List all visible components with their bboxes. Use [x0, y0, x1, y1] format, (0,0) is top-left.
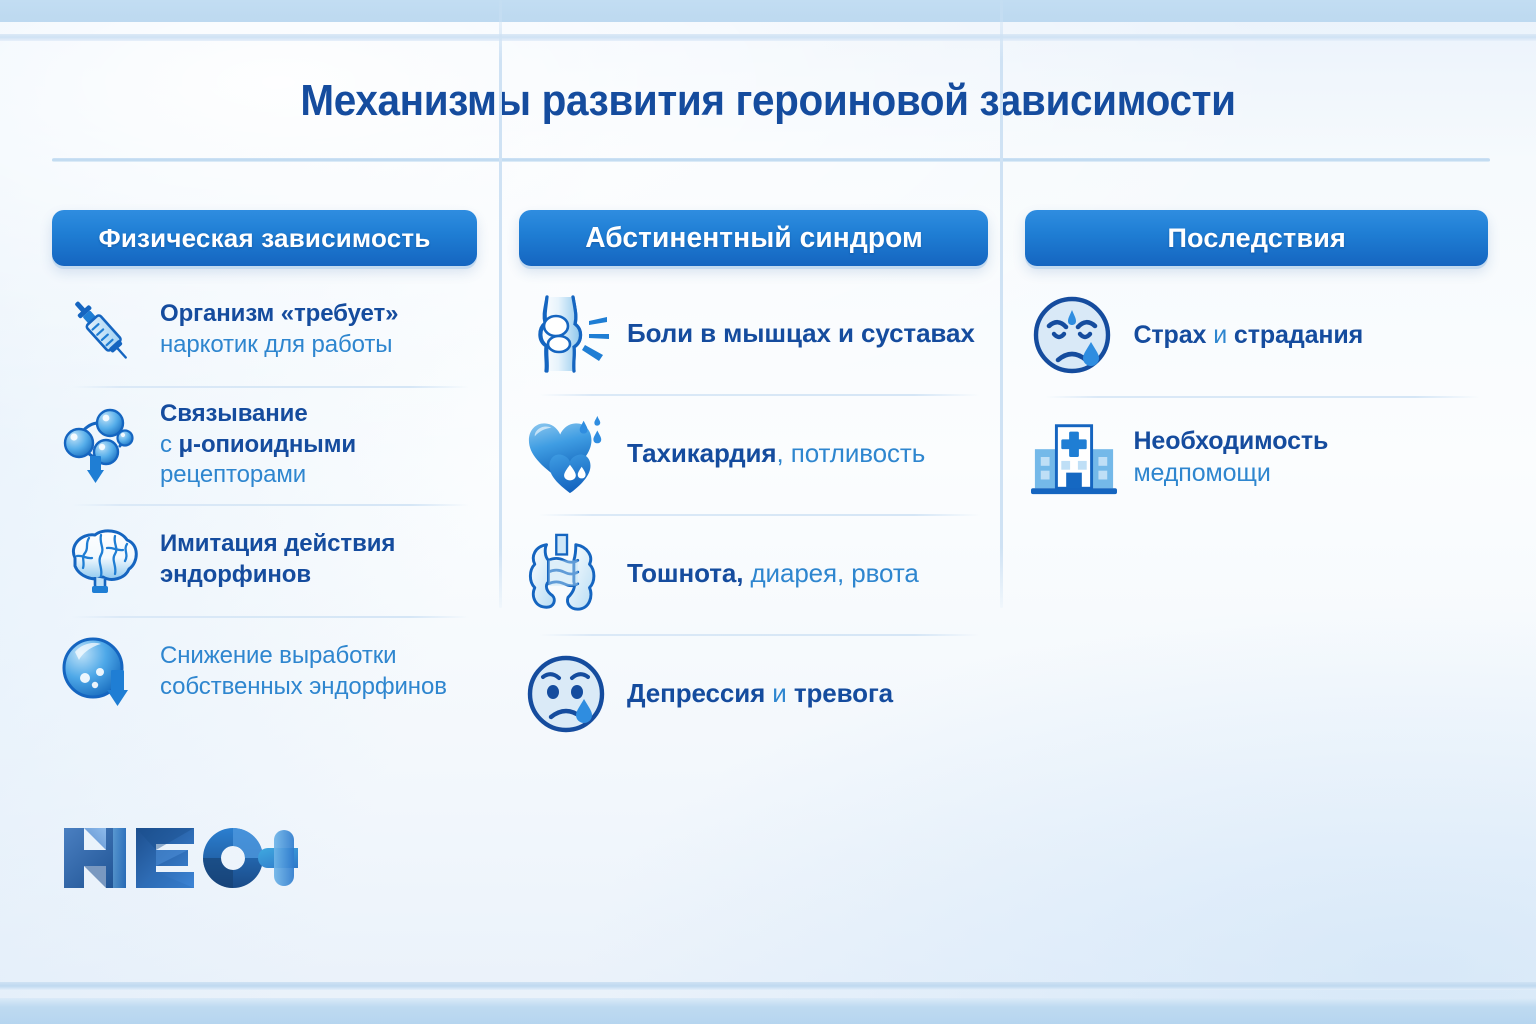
list-item[interactable]: Необходимость медпомощи — [1025, 396, 1488, 518]
column-header-withdrawal-syndrome[interactable]: Абстинентный синдром — [519, 210, 988, 266]
column-withdrawal-syndrome: Абстинентный синдром — [519, 210, 988, 820]
list-item-text: Депрессия и тревога — [627, 677, 984, 710]
list-item-text: Необходимость медпомощи — [1133, 425, 1484, 489]
cell-decrease-icon — [58, 629, 144, 715]
list-item-text: Имитация действия эндорфинов — [160, 529, 473, 590]
list-item-line: медпомощи — [1133, 459, 1270, 487]
top-band — [0, 0, 1536, 22]
list-item-line: и — [1206, 321, 1234, 349]
list-item-line: Снижение выработки — [160, 642, 396, 669]
list-withdrawal-syndrome: Боли в мышцах и суставах — [519, 274, 988, 754]
list-item-line: и — [765, 678, 794, 708]
list-consequences: Страх и страдания — [1025, 274, 1488, 518]
list-item[interactable]: Связывание с μ-опиоидными рецепторами — [52, 386, 477, 504]
list-item-text: Боли в мышцах и суставах — [627, 317, 984, 350]
list-item-text: Страх и страдания — [1133, 319, 1484, 351]
list-item-line: μ-опиоидными — [178, 431, 356, 458]
list-item-line: Имитация действия — [160, 530, 395, 557]
list-item-text: Снижение выработки собственных эндорфино… — [160, 641, 473, 702]
list-item-text: Тошнота, диарея, рвота — [627, 557, 984, 590]
list-item[interactable]: Боли в мышцах и суставах — [519, 274, 988, 394]
list-item-line: Связывание — [160, 400, 308, 427]
page-title: Механизмы развития героиновой зависимост… — [61, 76, 1474, 126]
heart-sweat-icon — [525, 411, 611, 497]
crying-face-icon — [1031, 292, 1117, 378]
list-physical-dependence: Организм «требует» наркотик для работы — [52, 274, 477, 728]
title-divider — [52, 158, 1490, 162]
column-header-label: Физическая зависимость — [98, 223, 430, 254]
list-item[interactable]: Тошнота, диарея, рвота — [519, 514, 988, 634]
list-item-line: Тахикардия — [627, 438, 777, 468]
list-item-text: Тахикардия, потливость — [627, 437, 984, 470]
bottom-band — [0, 998, 1536, 1024]
sad-face-tear-icon — [525, 651, 611, 737]
list-item-text: Организм «требует» наркотик для работы — [160, 299, 473, 360]
hospital-icon — [1031, 414, 1117, 500]
list-item-line: страдания — [1234, 321, 1363, 349]
list-item-line: диарея, рвота — [743, 558, 918, 588]
intestines-icon — [525, 531, 611, 617]
list-item-line: тревога — [794, 678, 893, 708]
list-item-line: Тошнота, — [627, 558, 743, 588]
list-item[interactable]: Тахикардия, потливость — [519, 394, 988, 514]
neo-plus-logo[interactable] — [58, 820, 298, 896]
list-item-line: с — [160, 431, 178, 458]
brain-icon — [58, 517, 144, 603]
list-item-line: Боли в мышцах и суставах — [627, 318, 975, 348]
list-item-line: Необходимость — [1133, 427, 1328, 455]
list-item-line: Депрессия — [627, 678, 765, 708]
list-item-line: наркотик для работы — [160, 331, 392, 358]
infographic-canvas: Механизмы развития героиновой зависимост… — [0, 0, 1536, 1024]
list-item[interactable]: Снижение выработки собственных эндорфино… — [52, 616, 477, 728]
column-header-label: Последствия — [1167, 223, 1346, 254]
column-header-label: Абстинентный синдром — [585, 222, 923, 255]
list-item-text: Связывание с μ-опиоидными рецепторами — [160, 399, 473, 491]
list-item-line: собственных эндорфинов — [160, 673, 447, 700]
column-header-consequences[interactable]: Последствия — [1025, 210, 1488, 266]
bottom-rule — [0, 982, 1536, 990]
molecule-receptor-icon — [58, 402, 144, 488]
top-rule — [0, 34, 1536, 41]
list-item-line: эндорфинов — [160, 561, 311, 588]
list-item[interactable]: Страх и страдания — [1025, 274, 1488, 396]
columns-container: Физическая зависимость — [52, 210, 1488, 820]
column-physical-dependence: Физическая зависимость — [52, 210, 477, 820]
column-consequences: Последствия — [1025, 210, 1488, 820]
list-item-line: рецепторами — [160, 461, 306, 488]
list-item[interactable]: Организм «требует» наркотик для работы — [52, 274, 477, 386]
list-item-line: Страх — [1133, 321, 1206, 349]
list-item-line: , потливость — [777, 438, 926, 468]
list-item[interactable]: Депрессия и тревога — [519, 634, 988, 754]
syringe-icon — [58, 287, 144, 373]
knee-joint-pain-icon — [525, 291, 611, 377]
column-header-physical-dependence[interactable]: Физическая зависимость — [52, 210, 477, 266]
list-item-line: Организм «требует» — [160, 300, 398, 327]
list-item[interactable]: Имитация действия эндорфинов — [52, 504, 477, 616]
